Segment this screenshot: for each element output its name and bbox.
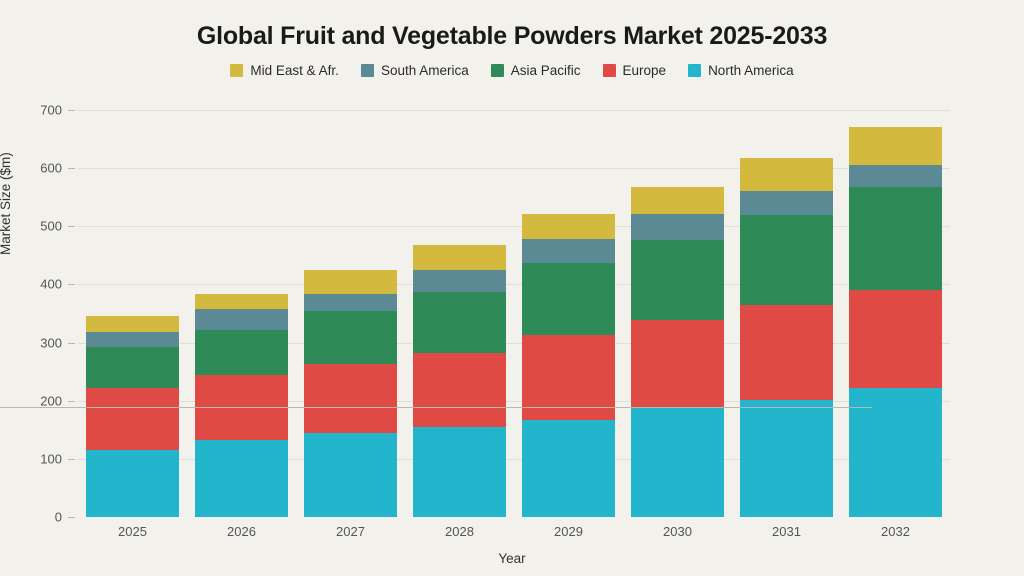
bar-group[interactable] bbox=[413, 110, 507, 517]
legend-item-label: Europe bbox=[623, 63, 667, 78]
bar-segment[interactable] bbox=[413, 353, 507, 427]
legend-item-label: Mid East & Afr. bbox=[250, 63, 339, 78]
y-tick-label: 100 bbox=[2, 451, 62, 466]
chart-title: Global Fruit and Vegetable Powders Marke… bbox=[0, 22, 1024, 51]
bar-segment[interactable] bbox=[86, 450, 180, 517]
bar-group[interactable] bbox=[522, 110, 616, 517]
bar-segment[interactable] bbox=[304, 364, 398, 434]
legend-item-label: South America bbox=[381, 63, 469, 78]
chart-legend: Mid East & Afr.South AmericaAsia Pacific… bbox=[0, 63, 1024, 78]
bar-segment[interactable] bbox=[195, 309, 289, 330]
y-tick-label: 300 bbox=[2, 335, 62, 350]
y-tick-label: 0 bbox=[2, 510, 62, 525]
y-axis-title: Market Size ($m) bbox=[0, 152, 13, 255]
x-tick-label: 2026 bbox=[182, 524, 302, 539]
x-tick-label: 2030 bbox=[618, 524, 738, 539]
bar-segment[interactable] bbox=[522, 239, 616, 263]
y-tick-label: 700 bbox=[2, 103, 62, 118]
bar-segment[interactable] bbox=[849, 290, 943, 388]
y-tick-mark bbox=[68, 110, 75, 111]
x-tick-label: 2032 bbox=[836, 524, 956, 539]
x-axis-line bbox=[0, 407, 872, 408]
y-tick-label: 200 bbox=[2, 393, 62, 408]
y-tick-mark bbox=[68, 517, 75, 518]
y-tick-label: 400 bbox=[2, 277, 62, 292]
bar-segment[interactable] bbox=[849, 127, 943, 165]
legend-swatch-icon bbox=[603, 64, 616, 77]
bar-segment[interactable] bbox=[740, 400, 834, 517]
legend-swatch-icon bbox=[688, 64, 701, 77]
bar-segment[interactable] bbox=[195, 294, 289, 309]
bar-segment[interactable] bbox=[522, 263, 616, 335]
bar-group[interactable] bbox=[304, 110, 398, 517]
bar-segment[interactable] bbox=[849, 187, 943, 290]
bar-segment[interactable] bbox=[86, 347, 180, 388]
bar-segment[interactable] bbox=[195, 330, 289, 375]
bar-segment[interactable] bbox=[304, 433, 398, 517]
legend-item[interactable]: North America bbox=[688, 63, 794, 78]
legend-item-label: North America bbox=[708, 63, 794, 78]
bar-segment[interactable] bbox=[86, 316, 180, 332]
x-tick-label: 2028 bbox=[400, 524, 520, 539]
bar-segment[interactable] bbox=[849, 165, 943, 187]
bar-segment[interactable] bbox=[522, 214, 616, 239]
bar-segment[interactable] bbox=[740, 215, 834, 305]
legend-swatch-icon bbox=[361, 64, 374, 77]
bar-segment[interactable] bbox=[740, 158, 834, 191]
bar-group[interactable] bbox=[195, 110, 289, 517]
legend-swatch-icon bbox=[230, 64, 243, 77]
bar-segment[interactable] bbox=[304, 311, 398, 364]
bar-segment[interactable] bbox=[413, 292, 507, 353]
legend-item[interactable]: Asia Pacific bbox=[491, 63, 581, 78]
y-tick-mark bbox=[68, 168, 75, 169]
y-tick-mark bbox=[68, 284, 75, 285]
bar-segment[interactable] bbox=[740, 191, 834, 215]
bar-segment[interactable] bbox=[304, 294, 398, 311]
legend-item[interactable]: Europe bbox=[603, 63, 667, 78]
legend-swatch-icon bbox=[491, 64, 504, 77]
x-axis-title: Year bbox=[0, 551, 1024, 566]
bar-segment[interactable] bbox=[740, 305, 834, 400]
y-tick-mark bbox=[68, 226, 75, 227]
y-tick-mark bbox=[68, 343, 75, 344]
bar-segment[interactable] bbox=[631, 240, 725, 320]
bar-segment[interactable] bbox=[522, 420, 616, 517]
legend-item-label: Asia Pacific bbox=[511, 63, 581, 78]
bar-segment[interactable] bbox=[86, 388, 180, 450]
legend-item[interactable]: Mid East & Afr. bbox=[230, 63, 339, 78]
bar-segment[interactable] bbox=[631, 214, 725, 240]
bar-segment[interactable] bbox=[413, 427, 507, 517]
x-tick-label: 2027 bbox=[291, 524, 411, 539]
bar-segment[interactable] bbox=[413, 245, 507, 270]
chart-container: Global Fruit and Vegetable Powders Marke… bbox=[0, 0, 1024, 576]
x-tick-label: 2025 bbox=[73, 524, 193, 539]
bar-segment[interactable] bbox=[86, 332, 180, 347]
bar-segment[interactable] bbox=[195, 440, 289, 517]
y-tick-mark bbox=[68, 401, 75, 402]
y-tick-mark bbox=[68, 459, 75, 460]
x-tick-label: 2029 bbox=[509, 524, 629, 539]
bar-segment[interactable] bbox=[631, 320, 725, 407]
bar-group[interactable] bbox=[740, 110, 834, 517]
bar-group[interactable] bbox=[86, 110, 180, 517]
x-tick-label: 2031 bbox=[727, 524, 847, 539]
plot-area bbox=[78, 110, 950, 517]
bar-segment[interactable] bbox=[631, 187, 725, 213]
bar-group[interactable] bbox=[631, 110, 725, 517]
bar-segment[interactable] bbox=[304, 270, 398, 293]
legend-item[interactable]: South America bbox=[361, 63, 469, 78]
bar-segment[interactable] bbox=[631, 407, 725, 517]
bar-segment[interactable] bbox=[413, 270, 507, 292]
bar-group[interactable] bbox=[849, 110, 943, 517]
